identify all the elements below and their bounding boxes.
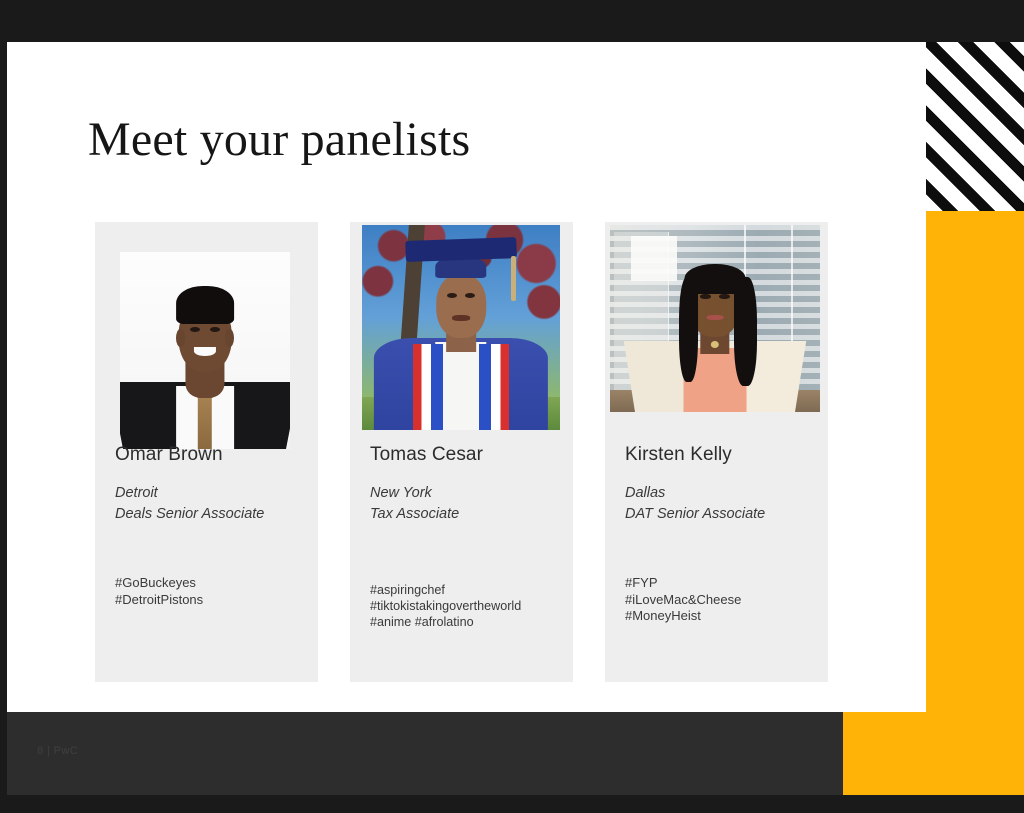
panelist-meta: Detroit Deals Senior Associate	[115, 483, 310, 525]
panelist-location: Dallas	[625, 483, 820, 504]
panelist-role: Deals Senior Associate	[115, 504, 310, 525]
hashtag: #MoneyHeist	[625, 608, 822, 625]
photo-backdrop	[362, 225, 560, 430]
panelist-photo-omar-brown	[120, 252, 290, 449]
panelist-role: Tax Associate	[370, 504, 565, 525]
panelist-info: Omar Brown Detroit Deals Senior Associat…	[115, 444, 310, 525]
hashtag: #FYP	[625, 575, 822, 592]
panelist-location: New York	[370, 483, 565, 504]
photo-backdrop	[120, 252, 290, 449]
hashtag: #iLoveMac&Cheese	[625, 592, 822, 609]
panelist-meta: Dallas DAT Senior Associate	[625, 483, 820, 525]
panelist-meta: New York Tax Associate	[370, 483, 565, 525]
panelist-card[interactable]: Kirsten Kelly Dallas DAT Senior Associat…	[605, 222, 828, 682]
panelist-photo-kirsten-kelly	[610, 225, 820, 412]
panelist-card-list: Omar Brown Detroit Deals Senior Associat…	[0, 0, 1024, 813]
hashtag: #DetroitPistons	[115, 592, 312, 609]
panelist-photo-tomas-cesar	[362, 225, 560, 430]
panelist-hashtags: #FYP #iLoveMac&Cheese #MoneyHeist	[625, 575, 822, 625]
panelist-info: Kirsten Kelly Dallas DAT Senior Associat…	[625, 444, 820, 525]
panelist-location: Detroit	[115, 483, 310, 504]
panelist-role: DAT Senior Associate	[625, 504, 820, 525]
hashtag: #GoBuckeyes	[115, 575, 312, 592]
hashtag: #tiktokistakingovertheworld	[370, 599, 567, 615]
panelist-hashtags: #aspiringchef #tiktokistakingovertheworl…	[370, 583, 567, 631]
panelist-card[interactable]: Omar Brown Detroit Deals Senior Associat…	[95, 222, 318, 682]
photo-backdrop	[610, 225, 820, 412]
hashtag: #anime #afrolatino	[370, 615, 567, 631]
panelist-card[interactable]: Tomas Cesar New York Tax Associate #aspi…	[350, 222, 573, 682]
slide-root: 8 | PwC Meet your panelists	[0, 0, 1024, 813]
panelist-name: Kirsten Kelly	[625, 444, 820, 466]
panelist-name: Tomas Cesar	[370, 444, 565, 466]
panelist-info: Tomas Cesar New York Tax Associate	[370, 444, 565, 525]
panelist-hashtags: #GoBuckeyes #DetroitPistons	[115, 575, 312, 608]
hashtag: #aspiringchef	[370, 583, 567, 599]
panelist-name: Omar Brown	[115, 444, 310, 466]
